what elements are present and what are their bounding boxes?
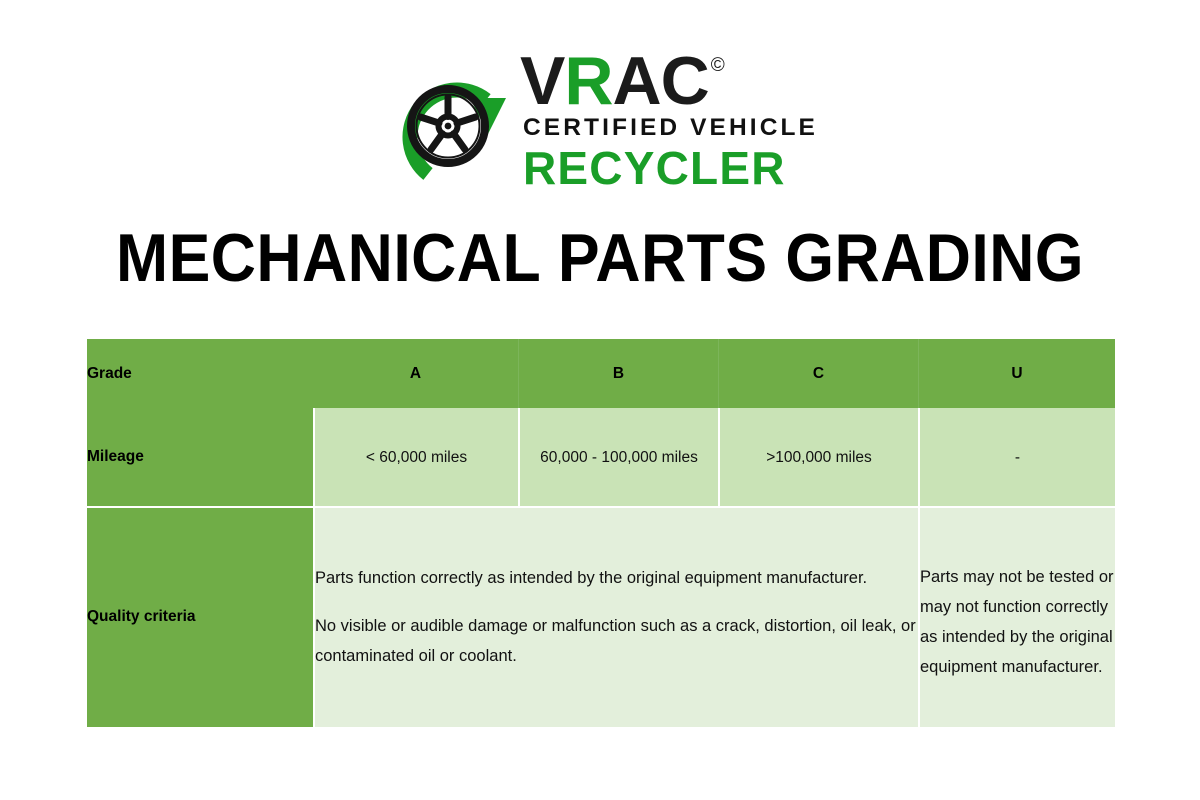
logo-letter-v: V: [520, 50, 564, 113]
header-grade-a: A: [313, 339, 518, 408]
table-row-mileage: Mileage < 60,000 miles 60,000 - 100,000 …: [87, 408, 1115, 508]
quality-criteria-u-text: Parts may not be tested or may not funct…: [920, 552, 1115, 682]
table-row-quality-criteria: Quality criteria Parts function correctl…: [87, 508, 1115, 727]
mileage-grade-a: < 60,000 miles: [313, 408, 518, 508]
row-label-quality-criteria: Quality criteria: [87, 508, 313, 727]
mileage-grade-c: >100,000 miles: [718, 408, 918, 508]
copyright-icon: ©: [711, 56, 725, 75]
recycling-arrow-wheel-icon: [382, 56, 514, 190]
header-grade-label: Grade: [87, 339, 313, 408]
header-grade-b: B: [518, 339, 718, 408]
grading-poster: V R AC © CERTIFIED VEHICLE RECYCLER MECH…: [0, 0, 1200, 800]
header-grade-c: C: [718, 339, 918, 408]
row-label-mileage: Mileage: [87, 408, 313, 508]
page-title: MECHANICAL PARTS GRADING: [48, 219, 1152, 297]
quality-criteria-abc: Parts function correctly as intended by …: [313, 508, 918, 727]
table-header-row: Grade A B C U: [87, 339, 1115, 408]
mileage-grade-u: -: [918, 408, 1115, 508]
logo-inner: V R AC © CERTIFIED VEHICLE RECYCLER: [382, 48, 818, 190]
mechanical-parts-grading-table: Grade A B C U Mileage < 60,000 miles 60,…: [87, 339, 1115, 727]
logo-tagline: CERTIFIED VEHICLE: [523, 114, 818, 142]
quality-paragraph-2: No visible or audible damage or malfunct…: [315, 611, 918, 671]
header-grade-u: U: [918, 339, 1115, 408]
logo-letter-r: R: [564, 50, 612, 113]
quality-criteria-u: Parts may not be tested or may not funct…: [918, 508, 1115, 727]
logo-wordmark: V R AC © CERTIFIED VEHICLE RECYCLER: [520, 50, 818, 192]
logo-letters-ac: AC: [612, 50, 708, 113]
logo-recycler: RECYCLER: [523, 144, 786, 192]
vrac-logo: V R AC © CERTIFIED VEHICLE RECYCLER: [0, 48, 1200, 200]
mileage-grade-b: 60,000 - 100,000 miles: [518, 408, 718, 508]
logo-vrac-line: V R AC ©: [520, 50, 723, 113]
quality-paragraph-1: Parts function correctly as intended by …: [315, 563, 918, 593]
